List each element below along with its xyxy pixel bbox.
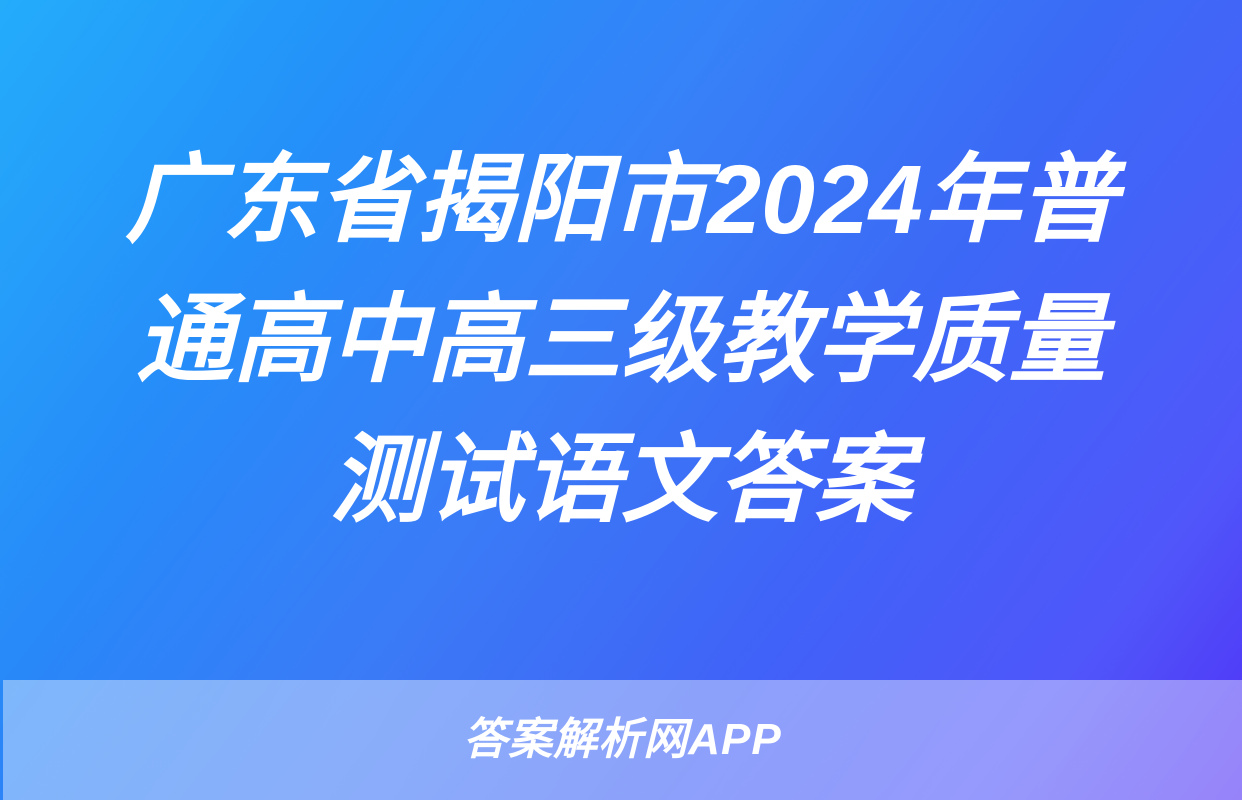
page-title: 广东省揭阳市2024年普通高中高三级教学质量测试语文答案 [92,130,1150,550]
answer-poster-card: 广东省揭阳市2024年普通高中高三级教学质量测试语文答案 答案解析网APP [0,0,1242,800]
headline-container: 广东省揭阳市2024年普通高中高三级教学质量测试语文答案 [0,0,1242,680]
footer-watermark-band: 答案解析网APP [3,680,1242,800]
app-watermark-label: 答案解析网APP [463,718,781,762]
